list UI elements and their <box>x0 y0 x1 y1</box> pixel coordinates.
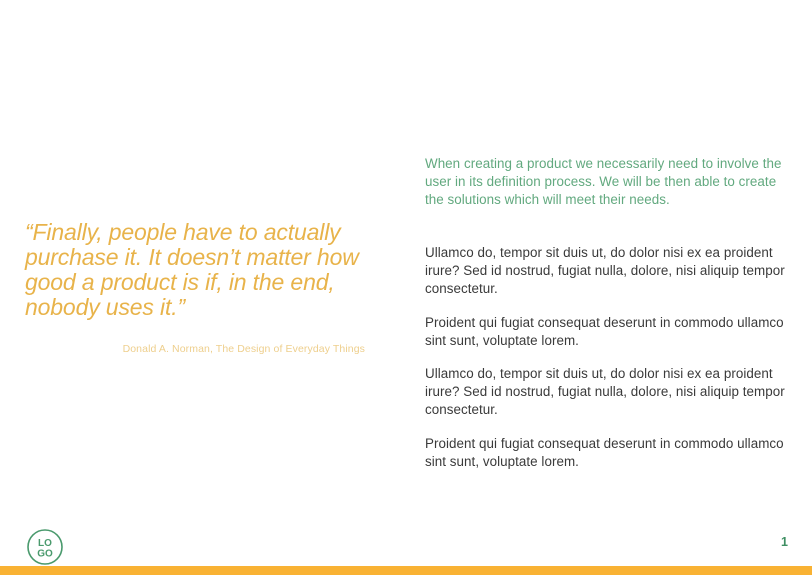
body-paragraph-4: Proident qui fugiat consequat deserunt i… <box>425 435 785 471</box>
logo-icon: LO GO <box>26 528 64 566</box>
body-paragraph-2: Proident qui fugiat consequat deserunt i… <box>425 314 785 350</box>
bottom-accent-bar <box>0 566 812 575</box>
lead-paragraph: When creating a product we necessarily n… <box>425 155 785 208</box>
logo-text-line1: LO <box>38 538 52 549</box>
slide-canvas: “Finally, people have to actually purcha… <box>0 0 812 575</box>
pull-quote-text: “Finally, people have to actually purcha… <box>25 220 365 320</box>
body-paragraph-1: Ullamco do, tempor sit duis ut, do dolor… <box>425 244 785 297</box>
logo-text-line2: GO <box>37 549 53 560</box>
body-paragraph-3: Ullamco do, tempor sit duis ut, do dolor… <box>425 365 785 418</box>
pull-quote-block: “Finally, people have to actually purcha… <box>25 220 365 356</box>
body-content-block: When creating a product we necessarily n… <box>425 155 785 470</box>
pull-quote-attribution: Donald A. Norman, The Design of Everyday… <box>25 342 365 356</box>
page-number: 1 <box>781 535 788 549</box>
